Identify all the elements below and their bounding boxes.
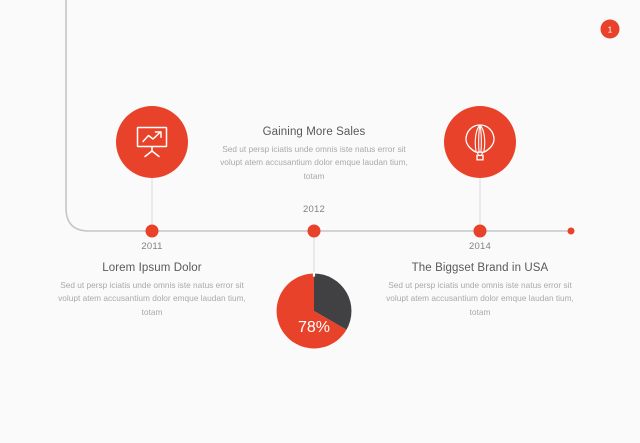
milestone-body-2011: Sed ut persp iciatis unde omnis iste nat… <box>52 279 252 319</box>
milestone-block-2011: Lorem Ipsum Dolor Sed ut persp iciatis u… <box>52 262 252 319</box>
timeline-rail <box>0 0 640 443</box>
year-label-2012: 2012 <box>303 204 325 215</box>
milestone-icon-presentation-chart[interactable] <box>116 106 188 178</box>
milestone-title-2011: Lorem Ipsum Dolor <box>52 262 252 274</box>
timeline-node-2012[interactable] <box>308 225 321 238</box>
year-label-2011: 2011 <box>141 241 162 252</box>
milestone-icon-hot-air-balloon[interactable] <box>444 106 516 178</box>
hot-air-balloon-icon <box>463 123 497 161</box>
pie-chart-value-label: 78% <box>275 272 353 350</box>
presentation-chart-icon <box>134 125 170 159</box>
year-label-2014: 2014 <box>469 241 491 252</box>
milestone-title-2012: Gaining More Sales <box>214 126 414 138</box>
milestone-body-2012: Sed ut persp iciatis unde omnis iste nat… <box>214 143 414 183</box>
timeline-end-dot <box>568 228 575 235</box>
pie-chart[interactable]: 78% <box>275 272 353 350</box>
slide-canvas: 2011 Lorem Ipsum Dolor Sed ut persp icia… <box>0 0 640 443</box>
milestone-block-2012: Gaining More Sales Sed ut persp iciatis … <box>214 126 414 183</box>
page-number-badge: 1 <box>601 20 620 39</box>
milestone-block-2014: The Biggset Brand in USA Sed ut persp ic… <box>380 262 580 319</box>
milestone-title-2014: The Biggset Brand in USA <box>380 262 580 274</box>
timeline-node-2014[interactable] <box>474 225 487 238</box>
milestone-body-2014: Sed ut persp iciatis unde omnis iste nat… <box>380 279 580 319</box>
timeline-node-2011[interactable] <box>146 225 159 238</box>
